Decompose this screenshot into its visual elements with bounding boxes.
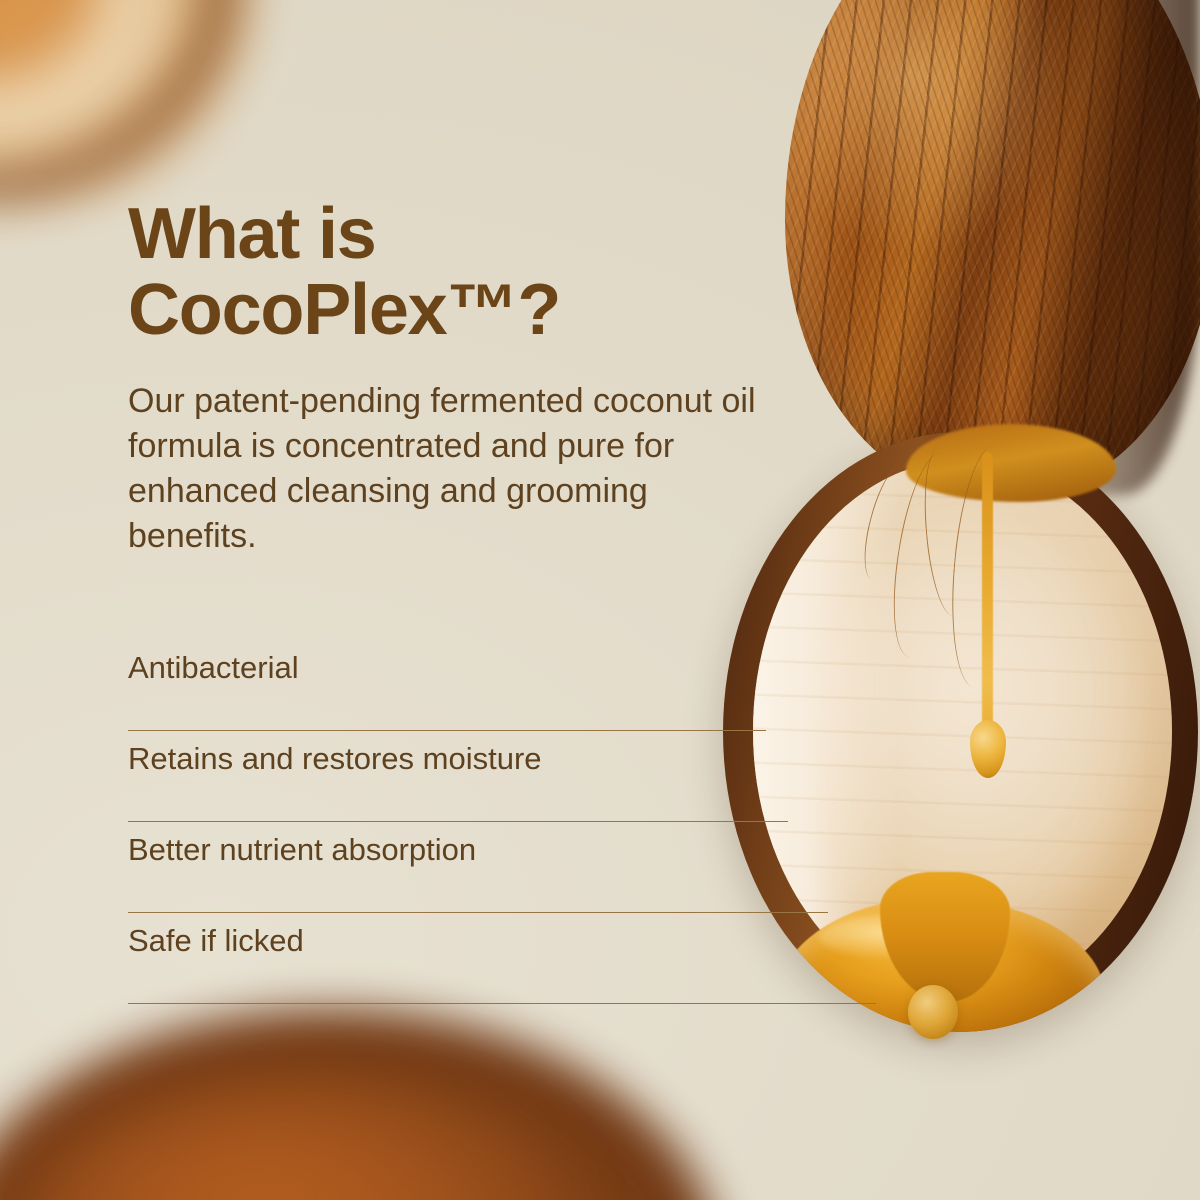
benefit-label: Better nutrient absorption (128, 822, 876, 865)
benefits-list: Antibacterial Retains and restores moist… (128, 640, 876, 1004)
promo-canvas: What is CocoPlex™? Our patent-pending fe… (0, 0, 1200, 1200)
oil-drip-strand (982, 452, 993, 762)
oil-spill-over-rim (880, 872, 1010, 1002)
coir-hair (882, 449, 968, 661)
description-text: Our patent-pending fermented coconut oil… (128, 379, 768, 560)
coir-hair (919, 447, 973, 618)
benefit-label: Retains and restores moisture (128, 731, 876, 774)
husk-shadow (1010, 0, 1200, 495)
list-item: Antibacterial (128, 640, 876, 731)
benefit-label: Safe if licked (128, 913, 876, 956)
oil-drip-bead (970, 720, 1006, 778)
page-title: What is CocoPlex™? (128, 196, 888, 349)
list-item: Safe if licked (128, 913, 876, 1004)
oil-smear (906, 424, 1116, 502)
coir-hair (943, 442, 1026, 690)
oil-droplet (908, 985, 958, 1039)
divider (128, 1003, 876, 1004)
text-block: What is CocoPlex™? Our patent-pending fe… (128, 196, 888, 560)
list-item: Better nutrient absorption (128, 822, 876, 913)
list-item: Retains and restores moisture (128, 731, 876, 822)
benefit-label: Antibacterial (128, 640, 876, 683)
